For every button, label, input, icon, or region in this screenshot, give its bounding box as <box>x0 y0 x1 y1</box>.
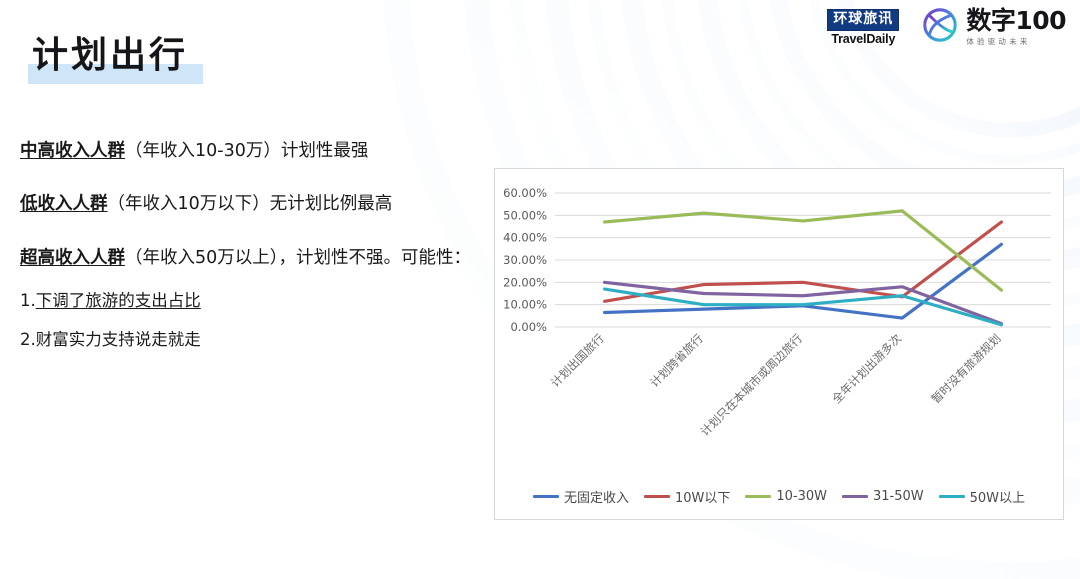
shuzi100-logo-name: 数字100 <box>966 8 1066 33</box>
legend-swatch-icon <box>533 495 559 499</box>
logo-bar: 环球旅讯 TravelDaily 数字100 体验驱动未来 <box>827 6 1066 49</box>
y-axis-tick-label: 40.00% <box>503 231 547 245</box>
x-axis-tick-label: 计划只在本城市或周边旅行 <box>698 331 805 438</box>
insight-paragraph-1: 中高收入人群（年收入10-30万）计划性最强 <box>20 137 490 165</box>
legend-swatch-icon <box>745 495 771 499</box>
legend-item[interactable]: 无固定收入 <box>533 487 629 506</box>
page-title: 计划出行 <box>32 38 188 74</box>
x-axis-tick-label: 计划出国旅行 <box>548 331 607 390</box>
chart-series-line <box>605 211 1002 290</box>
line-chart-card: 60.00%50.00%40.00%30.00%20.00%10.00%0.00… <box>494 168 1064 520</box>
page-title-wrap: 计划出行 <box>32 38 188 74</box>
chart-legend: 无固定收入10W以下10-30W31-50W50W以上 <box>495 487 1063 506</box>
legend-item[interactable]: 10W以下 <box>644 487 730 506</box>
legend-swatch-icon <box>842 495 868 499</box>
legend-label: 10-30W <box>776 489 827 504</box>
insight-2-rest: （年收入10万以下）无计划比例最高 <box>108 194 393 214</box>
y-axis-tick-label: 10.00% <box>503 298 547 312</box>
insight-paragraph-3: 超高收入人群（年收入50万以上），计划性不强。可能性： <box>20 244 490 272</box>
legend-label: 10W以下 <box>675 487 730 506</box>
reason-2-text: 财富实力支持说走就走 <box>36 330 201 349</box>
y-axis-tick-label: 30.00% <box>503 253 547 267</box>
shuzi100-logo-tagline: 体验驱动未来 <box>966 36 1066 47</box>
x-axis-tick-label: 计划跨省旅行 <box>647 331 706 390</box>
insight-1-rest: （年收入10-30万）计划性最强 <box>125 141 368 161</box>
y-axis-tick-label: 20.00% <box>503 275 547 289</box>
insight-2-head: 低收入人群 <box>20 194 108 214</box>
line-chart: 60.00%50.00%40.00%30.00%20.00%10.00%0.00… <box>495 169 1063 469</box>
legend-label: 无固定收入 <box>564 487 629 506</box>
legend-label: 31-50W <box>873 489 924 504</box>
reason-1-text: 下调了旅游的支出占比 <box>36 291 201 310</box>
legend-item[interactable]: 31-50W <box>842 489 924 504</box>
insight-paragraph-2: 低收入人群（年收入10万以下）无计划比例最高 <box>20 190 490 218</box>
legend-item[interactable]: 10-30W <box>745 489 827 504</box>
traveldaily-logo-en: TravelDaily <box>831 32 895 46</box>
legend-swatch-icon <box>644 495 670 499</box>
y-axis-tick-label: 0.00% <box>510 320 547 334</box>
legend-swatch-icon <box>939 495 965 499</box>
x-axis-tick-label: 全年计划出游多次 <box>829 331 904 406</box>
insight-1-head: 中高收入人群 <box>20 141 125 161</box>
traveldaily-logo-cn: 环球旅讯 <box>827 9 899 32</box>
list-item: 2.财富实力支持说走就走 <box>20 327 490 353</box>
y-axis-tick-label: 60.00% <box>503 186 547 200</box>
insight-3-rest: （年收入50万以上），计划性不强。可能性： <box>125 248 471 268</box>
swirl-circle-icon <box>921 6 959 49</box>
shuzi100-logo: 数字100 体验驱动未来 <box>921 6 1066 49</box>
reason-2-number: 2. <box>20 330 36 349</box>
x-axis-tick-label: 暂时没有旅游规划 <box>929 331 1004 406</box>
y-axis-tick-label: 50.00% <box>503 208 547 222</box>
body-text-column: 中高收入人群（年收入10-30万）计划性最强 低收入人群（年收入10万以下）无计… <box>20 137 490 365</box>
legend-item[interactable]: 50W以上 <box>939 487 1025 506</box>
insight-3-head: 超高收入人群 <box>20 248 125 268</box>
list-item: 1.下调了旅游的支出占比 <box>20 288 490 314</box>
reasons-list: 1.下调了旅游的支出占比 2.财富实力支持说走就走 <box>20 288 490 352</box>
traveldaily-logo: 环球旅讯 TravelDaily <box>827 9 899 47</box>
legend-label: 50W以上 <box>970 487 1025 506</box>
reason-1-number: 1. <box>20 291 36 310</box>
